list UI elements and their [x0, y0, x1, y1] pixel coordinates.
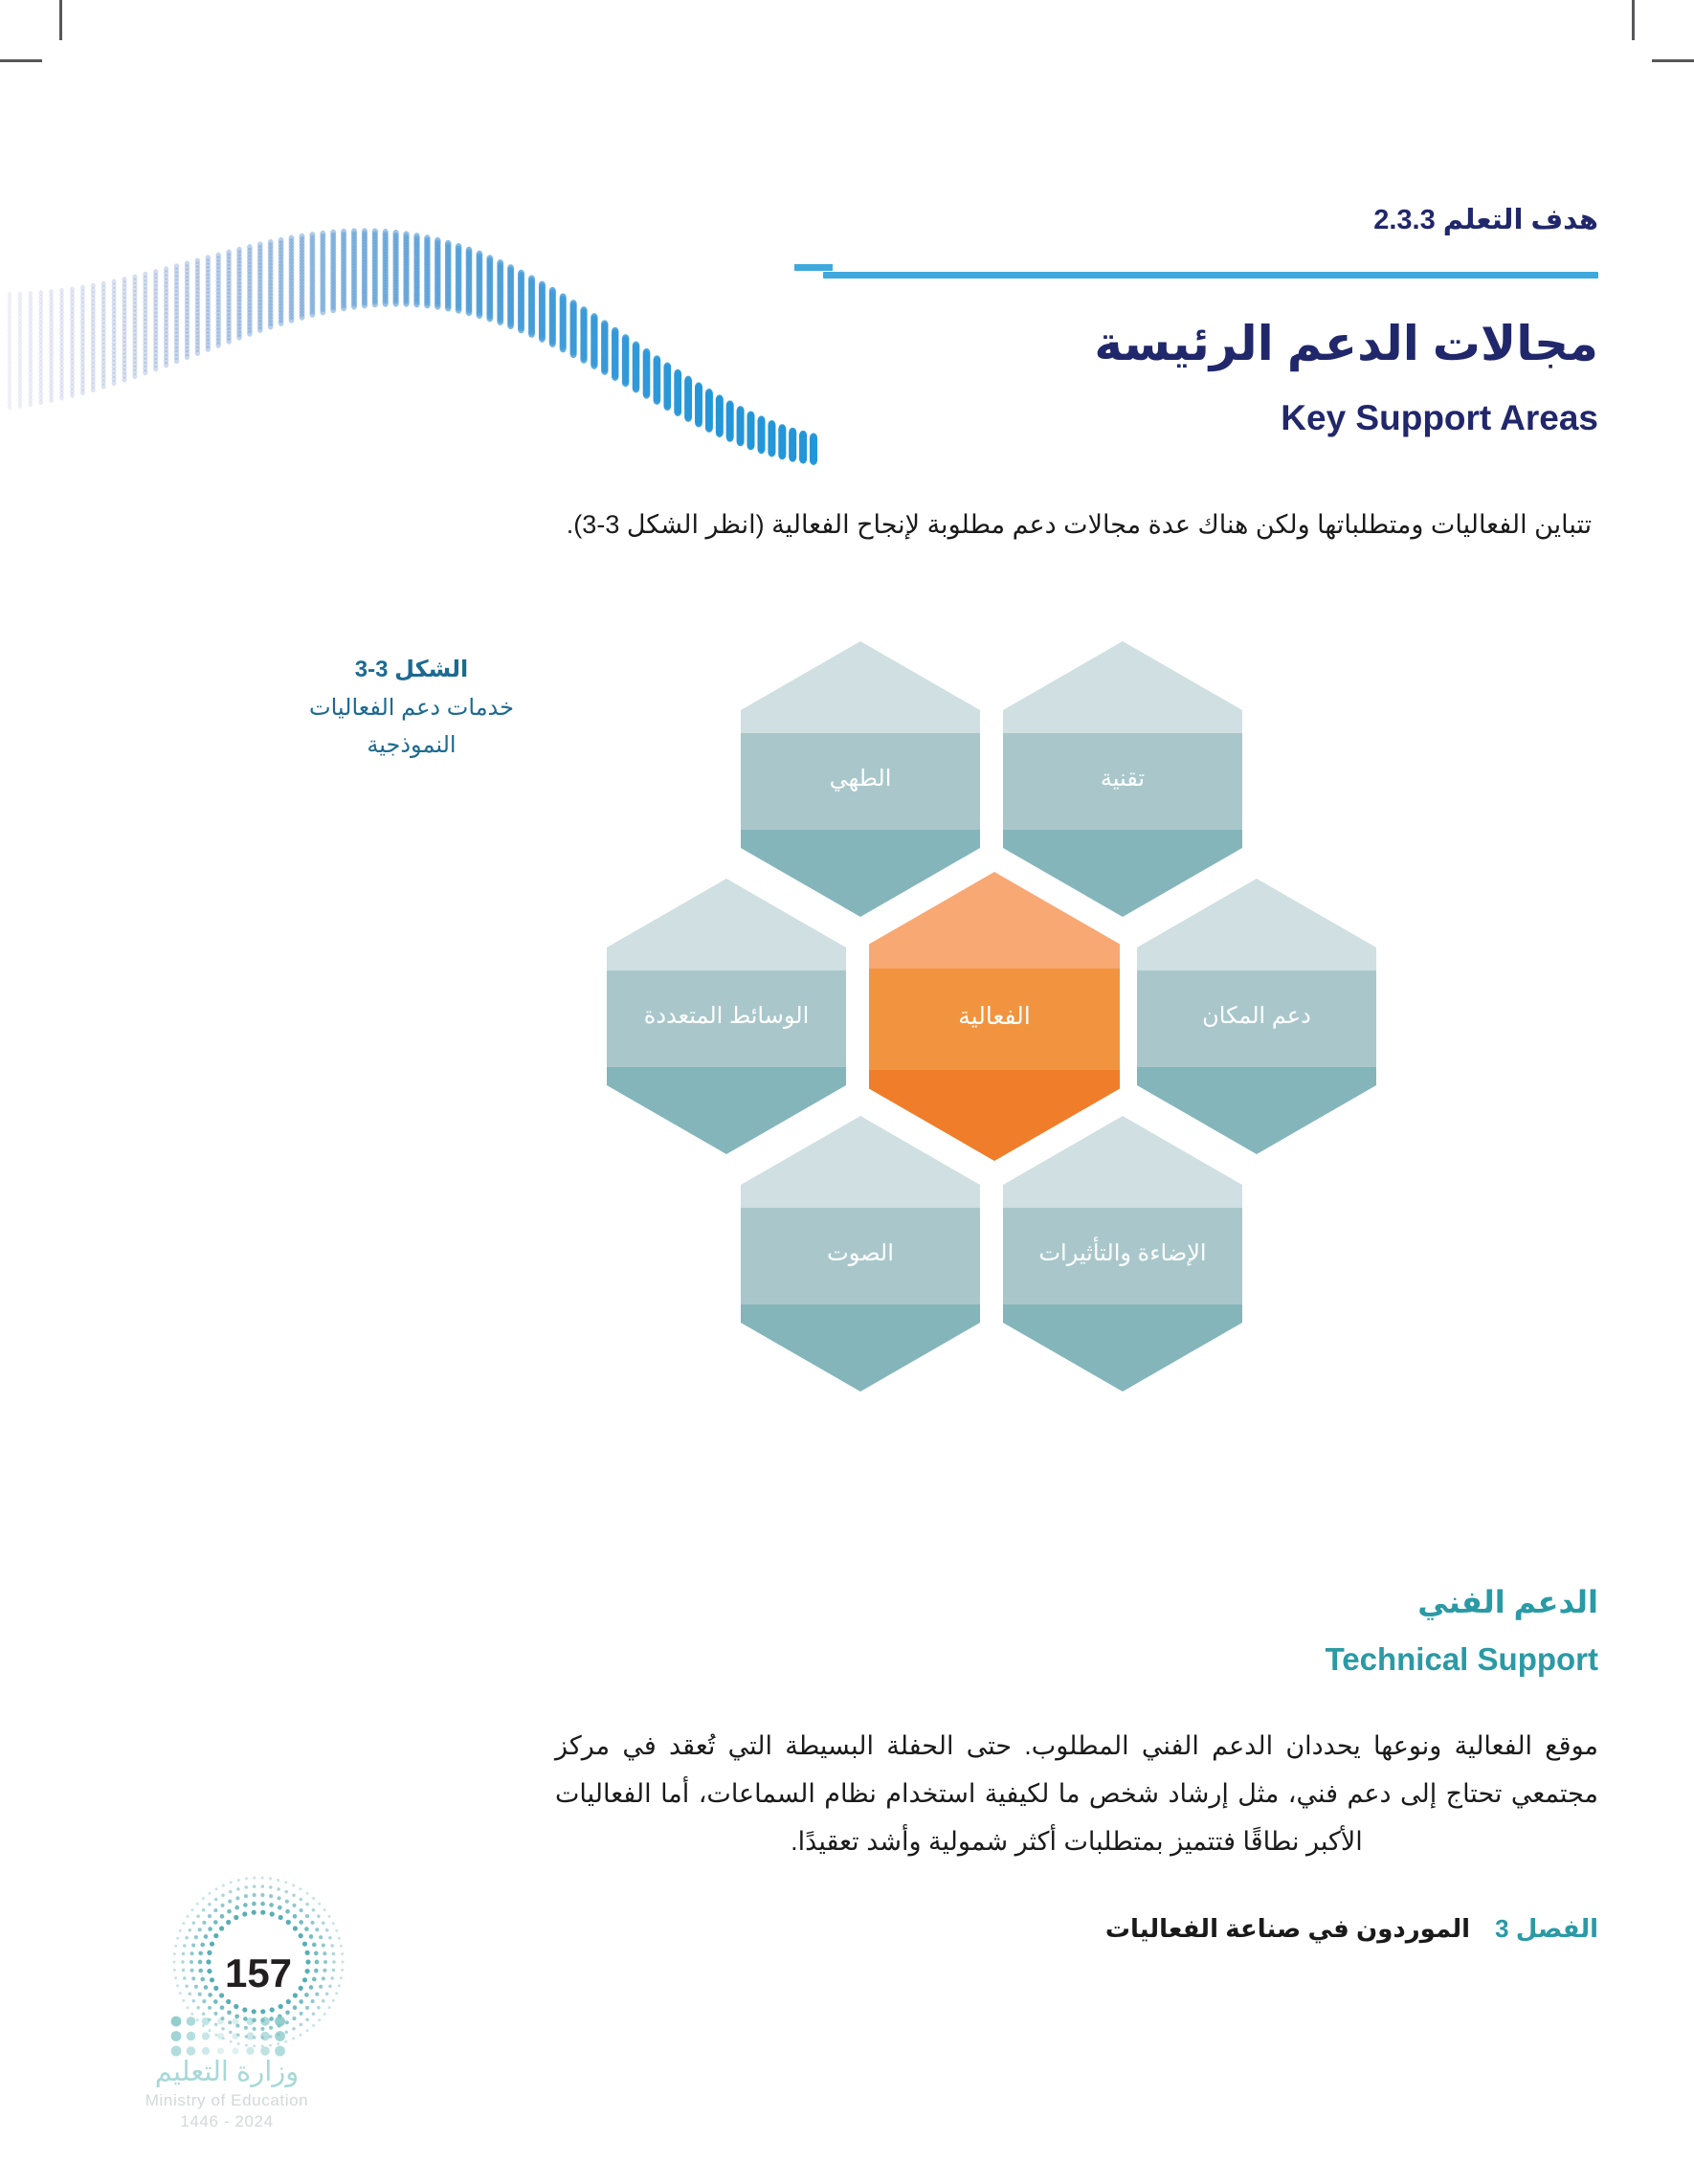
figure-caption-line-2: النموذجية: [367, 732, 456, 758]
learning-objective-label: هدف التعلم 2.3.3: [833, 203, 1598, 236]
hexagon-label: الصوت: [815, 1238, 905, 1268]
hex-band-bottom: [1137, 1067, 1376, 1154]
hexagon-event-center: الفعالية: [869, 872, 1120, 1161]
page-title-english: Key Support Areas: [737, 397, 1598, 439]
page-number-badge: 157: [153, 1868, 364, 2079]
page-title-arabic: مجالات الدعم الرئيسة: [737, 316, 1598, 372]
hexagon-technology: تقنية: [1003, 641, 1242, 917]
hexagon-label: الطهي: [818, 764, 903, 793]
crop-mark-top-left-horizontal: [0, 59, 42, 62]
hex-band-bottom: [607, 1067, 846, 1154]
ministry-name-english: Ministry of Education: [88, 2088, 366, 2113]
hexagon-label: تقنية: [1089, 764, 1156, 793]
hexagon-label: الإضاءة والتأثيرات: [1027, 1238, 1217, 1268]
page-number: 157: [153, 1868, 364, 2079]
footer-chapter-title: الموردون في صناعة الفعاليات: [1105, 1914, 1470, 1943]
textbook-page: هدف التعلم 2.3.3 مجالات الدعم الرئيسة Ke…: [0, 0, 1694, 2184]
hexagon-lighting-effects: الإضاءة والتأثيرات: [1003, 1116, 1242, 1392]
hex-band-top: [1003, 641, 1242, 733]
hexagon-label: الوسائط المتعددة: [633, 1001, 820, 1031]
dotted-wave-decoration: [0, 96, 833, 479]
crop-mark-top-right-vertical: [1632, 0, 1635, 40]
section-subtitle-english: Technical Support: [737, 1641, 1598, 1678]
section-paragraph: موقع الفعالية ونوعها يحددان الدعم الفني …: [555, 1723, 1598, 1866]
hex-band-bottom: [1003, 1304, 1242, 1392]
intro-paragraph: تتباين الفعاليات ومتطلباتها ولكن هناك عد…: [560, 502, 1598, 547]
hex-band-top: [741, 641, 980, 733]
crop-mark-top-right-horizontal: [1652, 59, 1694, 62]
header-rule: [823, 272, 1598, 279]
hexagon-venue-support: دعم المكان: [1137, 879, 1376, 1154]
crop-mark-top-left-vertical: [59, 0, 62, 40]
hexagon-sound: الصوت: [741, 1116, 980, 1392]
hexagon-label: دعم المكان: [1191, 1001, 1323, 1031]
hex-band-top: [607, 879, 846, 970]
figure-caption-line-1: خدمات دعم الفعاليات: [309, 695, 514, 721]
hex-band-top: [1137, 879, 1376, 970]
hexagon-diagram: الطهي تقنية الوسائط المتعددة الفعالية دع…: [498, 641, 1359, 1503]
hexagon-label-center: الفعالية: [947, 1001, 1041, 1033]
footer-chapter-line: الفصل 3الموردون في صناعة الفعاليات: [1105, 1914, 1598, 1944]
ministry-year: 2024 - 1446: [88, 2112, 366, 2131]
hex-band-bottom: [741, 1304, 980, 1392]
footer-chapter-label: الفصل 3: [1495, 1914, 1598, 1943]
hexagon-multimedia: الوسائط المتعددة: [607, 879, 846, 1154]
hexagon-cooking: الطهي: [741, 641, 980, 917]
section-subtitle-arabic: الدعم الفني: [737, 1584, 1598, 1620]
